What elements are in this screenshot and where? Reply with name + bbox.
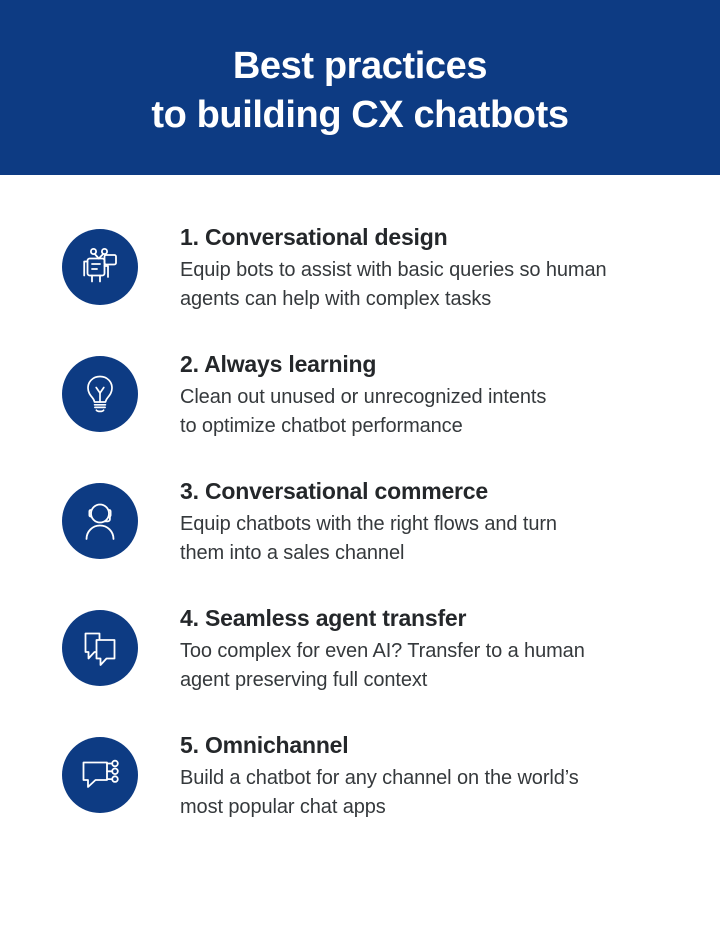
item-body: Equip bots to assist with basic queries … — [180, 256, 680, 314]
item-text-block: 5. Omnichannel Build a chatbot for any c… — [138, 731, 696, 822]
item-heading: 3. Conversational commerce — [180, 477, 696, 506]
best-practices-list: 1. Conversational design Equip bots to a… — [0, 175, 720, 822]
item-heading: 2. Always learning — [180, 350, 696, 379]
item-body-line-2: most popular chat apps — [180, 793, 680, 822]
list-item: 3. Conversational commerce Equip chatbot… — [0, 477, 720, 568]
item-body-line-1: Clean out unused or unrecognized intents — [180, 383, 680, 412]
item-heading: 4. Seamless agent transfer — [180, 604, 696, 633]
page-title-line-1: Best practices — [233, 42, 487, 91]
infographic-page: Best practices to building CX chatbots — [0, 0, 720, 950]
header-banner: Best practices to building CX chatbots — [0, 0, 720, 175]
headset-agent-icon — [62, 483, 138, 559]
lightbulb-icon — [62, 356, 138, 432]
item-body-line-1: Equip bots to assist with basic queries … — [180, 256, 680, 285]
item-text-block: 1. Conversational design Equip bots to a… — [138, 223, 696, 314]
page-title-line-2: to building CX chatbots — [151, 91, 568, 140]
item-body-line-2: to optimize chatbot performance — [180, 412, 680, 441]
item-body: Equip chatbots with the right flows and … — [180, 510, 680, 568]
list-item: 1. Conversational design Equip bots to a… — [0, 223, 720, 314]
list-item: 2. Always learning Clean out unused or u… — [0, 350, 720, 441]
item-body-line-1: Too complex for even AI? Transfer to a h… — [180, 637, 680, 666]
item-body-line-2: them into a sales channel — [180, 539, 680, 568]
item-body: Clean out unused or unrecognized intents… — [180, 383, 680, 441]
item-body-line-1: Build a chatbot for any channel on the w… — [180, 764, 680, 793]
speech-bubbles-icon — [62, 610, 138, 686]
item-body: Too complex for even AI? Transfer to a h… — [180, 637, 680, 695]
list-item: 4. Seamless agent transfer Too complex f… — [0, 604, 720, 695]
item-text-block: 3. Conversational commerce Equip chatbot… — [138, 477, 696, 568]
item-body-line-2: agent preserving full context — [180, 666, 680, 695]
item-text-block: 2. Always learning Clean out unused or u… — [138, 350, 696, 441]
item-text-block: 4. Seamless agent transfer Too complex f… — [138, 604, 696, 695]
item-body-line-1: Equip chatbots with the right flows and … — [180, 510, 680, 539]
chatbot-robot-icon — [62, 229, 138, 305]
item-heading: 1. Conversational design — [180, 223, 696, 252]
item-body: Build a chatbot for any channel on the w… — [180, 764, 680, 822]
item-heading: 5. Omnichannel — [180, 731, 696, 760]
list-item: 5. Omnichannel Build a chatbot for any c… — [0, 731, 720, 822]
item-body-line-2: agents can help with complex tasks — [180, 285, 680, 314]
omnichannel-bubble-nodes-icon — [62, 737, 138, 813]
